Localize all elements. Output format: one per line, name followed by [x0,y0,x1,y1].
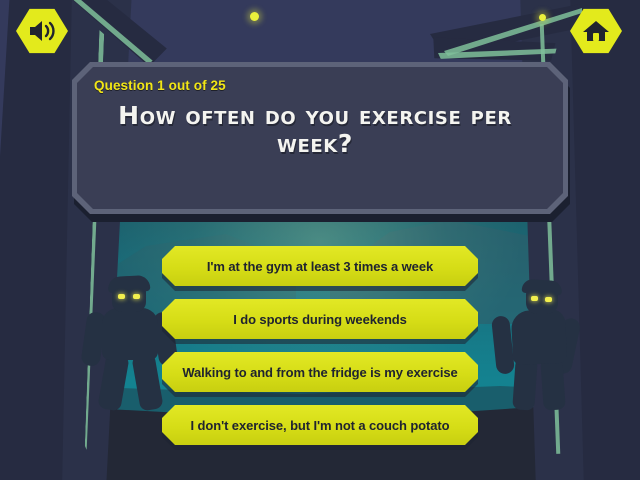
answer-label: I don't exercise, but I'm not a couch po… [162,405,478,445]
home-button[interactable] [570,8,622,54]
answer-button-4[interactable]: I don't exercise, but I'm not a couch po… [162,405,478,445]
answer-button-3[interactable]: Walking to and from the fridge is my exe… [162,352,478,392]
zombie-torso [102,308,158,360]
answer-label: I do sports during weekends [162,299,478,339]
zombie-hair [522,279,563,296]
zombie-leg-left [512,357,538,410]
zombie-leg-right [540,357,566,410]
home-icon [581,18,611,44]
quiz-screen: Question 1 out of 25 How often do you ex… [0,0,640,480]
speaker-volume-icon [27,18,57,44]
zombie-torso [511,309,568,366]
zombie-eye-icon [545,297,552,302]
firefly-icon [250,12,259,21]
answer-label: I'm at the gym at least 3 times a week [162,246,478,286]
question-panel: Question 1 out of 25 How often do you ex… [72,62,568,214]
zombie-eye-icon [531,296,538,301]
sound-toggle-button[interactable] [16,8,68,54]
answer-button-1[interactable]: I'm at the gym at least 3 times a week [162,246,478,286]
zombie-leg-left [97,352,129,411]
firefly-icon [539,14,546,21]
zombie-eye-icon [133,294,140,299]
answer-list: I'm at the gym at least 3 times a week I… [162,246,478,458]
answer-label: Walking to and from the fridge is my exe… [162,352,478,392]
zombie-eye-icon [118,294,125,299]
answer-button-2[interactable]: I do sports during weekends [162,299,478,339]
zombie-hair [108,275,151,293]
zombie-silhouette-right [500,284,586,408]
question-text: How often do you exercise per week? [96,102,534,158]
question-counter: Question 1 out of 25 [94,78,226,93]
